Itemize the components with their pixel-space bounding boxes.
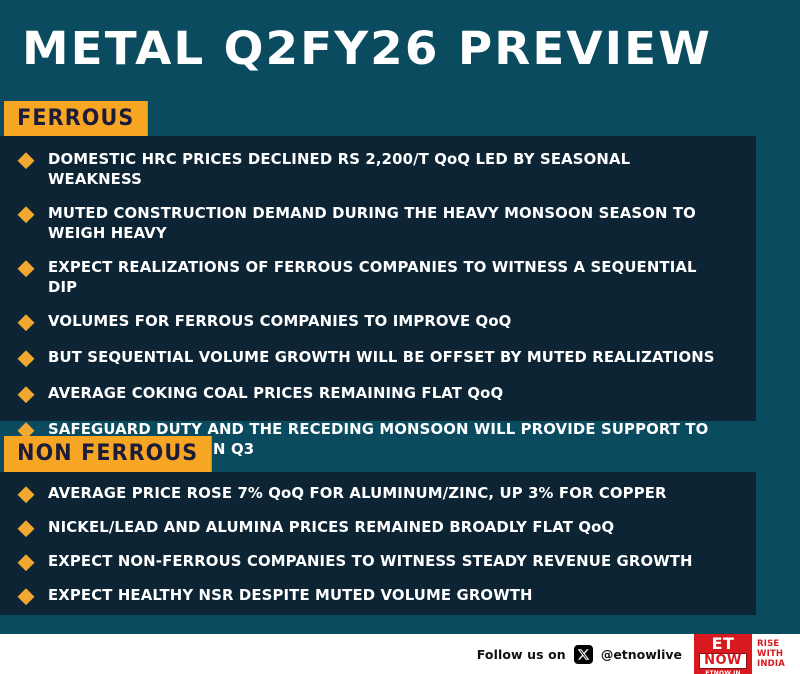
tagline-line-1: RISE xyxy=(757,639,796,649)
quatrefoil-diamond-bullet-icon xyxy=(16,485,36,505)
list-item: NICKEL/LEAD AND ALUMINA PRICES REMAINED … xyxy=(0,517,756,539)
quatrefoil-diamond-bullet-icon xyxy=(16,519,36,539)
list-item-label: MUTED CONSTRUCTION DEMAND DURING THE HEA… xyxy=(48,203,716,243)
section-panel-ferrous: DOMESTIC HRC PRICES DECLINED RS 2,200/T … xyxy=(0,136,756,421)
list-item-label: AVERAGE PRICE ROSE 7% QoQ FOR ALUMINUM/Z… xyxy=(48,483,716,503)
etnow-logo-now-text: NOW xyxy=(699,653,747,669)
list-item-label: EXPECT HEALTHY NSR DESPITE MUTED VOLUME … xyxy=(48,585,716,605)
etnow-logo-et-text: ET xyxy=(712,636,735,652)
x-twitter-icon[interactable] xyxy=(574,645,593,664)
follow-us-label: Follow us on xyxy=(477,647,566,662)
etnow-logo-url-text: ETNOW.IN xyxy=(705,670,741,674)
tagline-line-2: WITH xyxy=(757,649,796,659)
quatrefoil-diamond-bullet-icon xyxy=(16,349,36,369)
etnow-logo-mark: ET NOW ETNOW.IN xyxy=(694,634,752,674)
section-badge-ferrous: FERROUS xyxy=(4,101,148,138)
list-item-label: EXPECT REALIZATIONS OF FERROUS COMPANIES… xyxy=(48,257,716,297)
quatrefoil-diamond-bullet-icon xyxy=(16,151,36,171)
quatrefoil-diamond-bullet-icon xyxy=(16,385,36,405)
bullet-list-ferrous: DOMESTIC HRC PRICES DECLINED RS 2,200/T … xyxy=(0,136,756,473)
list-item: VOLUMES FOR FERROUS COMPANIES TO IMPROVE… xyxy=(0,311,756,333)
list-item-label: EXPECT NON-FERROUS COMPANIES TO WITNESS … xyxy=(48,551,716,571)
list-item: MUTED CONSTRUCTION DEMAND DURING THE HEA… xyxy=(0,203,756,243)
section-badge-non-ferrous: NON FERROUS xyxy=(4,436,211,473)
bullet-list-non-ferrous: AVERAGE PRICE ROSE 7% QoQ FOR ALUMINUM/Z… xyxy=(0,472,756,619)
page-title: METAL Q2FY26 PREVIEW xyxy=(22,18,800,80)
quatrefoil-diamond-bullet-icon xyxy=(16,587,36,607)
list-item: EXPECT REALIZATIONS OF FERROUS COMPANIES… xyxy=(0,257,756,297)
infographic-canvas: METAL Q2FY26 PREVIEW FERROUS DOMESTIC HR xyxy=(0,0,800,674)
quatrefoil-diamond-bullet-icon xyxy=(16,259,36,279)
quatrefoil-diamond-bullet-icon xyxy=(16,553,36,573)
list-item-label: VOLUMES FOR FERROUS COMPANIES TO IMPROVE… xyxy=(48,311,716,331)
etnow-logo: ET NOW ETNOW.IN RISE WITH INDIA xyxy=(694,634,796,674)
list-item: EXPECT NON-FERROUS COMPANIES TO WITNESS … xyxy=(0,551,756,573)
list-item-label: DOMESTIC HRC PRICES DECLINED RS 2,200/T … xyxy=(48,149,716,189)
footer-bar: Follow us on @etnowlive ET NOW ETNOW.IN … xyxy=(0,634,800,674)
list-item: AVERAGE PRICE ROSE 7% QoQ FOR ALUMINUM/Z… xyxy=(0,483,756,505)
list-item: DOMESTIC HRC PRICES DECLINED RS 2,200/T … xyxy=(0,149,756,189)
quatrefoil-diamond-bullet-icon xyxy=(16,313,36,333)
list-item: BUT SEQUENTIAL VOLUME GROWTH WILL BE OFF… xyxy=(0,347,756,369)
list-item: EXPECT HEALTHY NSR DESPITE MUTED VOLUME … xyxy=(0,585,756,607)
quatrefoil-diamond-bullet-icon xyxy=(16,205,36,225)
social-handle-label[interactable]: @etnowlive xyxy=(601,647,682,662)
list-item: AVERAGE COKING COAL PRICES REMAINING FLA… xyxy=(0,383,756,405)
list-item-label: BUT SEQUENTIAL VOLUME GROWTH WILL BE OFF… xyxy=(48,347,716,367)
section-panel-non-ferrous: AVERAGE PRICE ROSE 7% QoQ FOR ALUMINUM/Z… xyxy=(0,472,756,615)
tagline-line-3: INDIA xyxy=(757,659,796,669)
list-item-label: AVERAGE COKING COAL PRICES REMAINING FLA… xyxy=(48,383,716,403)
etnow-logo-tagline: RISE WITH INDIA xyxy=(752,634,796,674)
list-item-label: NICKEL/LEAD AND ALUMINA PRICES REMAINED … xyxy=(48,517,716,537)
